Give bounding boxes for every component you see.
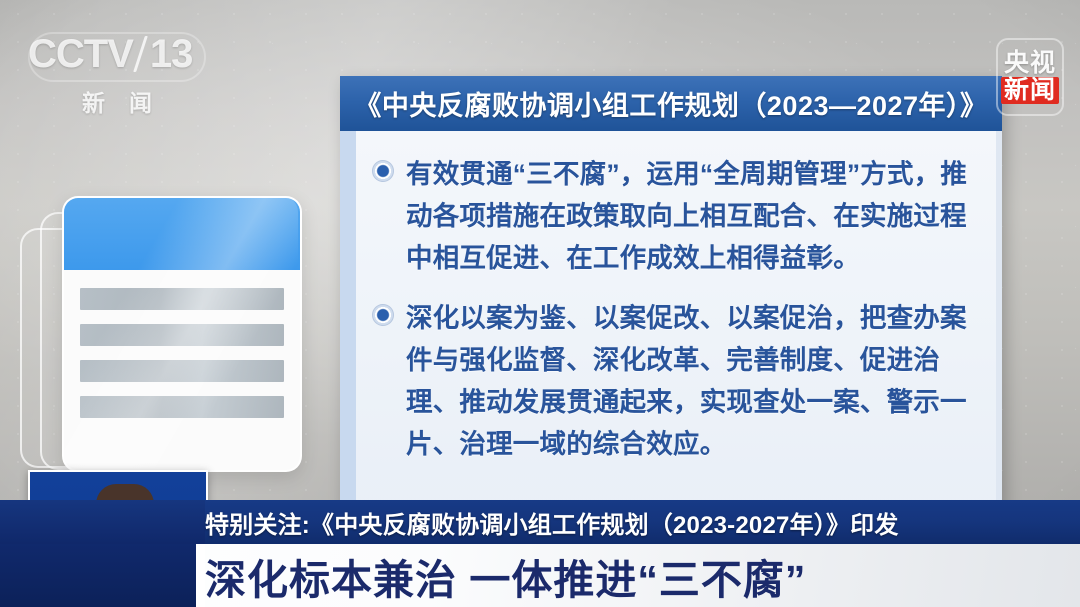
content-panel: 《中央反腐败协调小组工作规划（2023—2027年）》 有效贯通“三不腐”，运用… <box>340 76 1002 516</box>
panel-body: 有效贯通“三不腐”，运用“全周期管理”方式，推动各项措施在政策取向上相互配合、在… <box>340 131 1002 516</box>
panel-title-bar: 《中央反腐败协调小组工作规划（2023—2027年）》 <box>340 76 1002 131</box>
bullet-text: 有效贯通“三不腐”，运用“全周期管理”方式，推动各项措施在政策取向上相互配合、在… <box>406 153 974 279</box>
logo-pill-outline <box>28 32 206 82</box>
document-text-line <box>80 360 284 382</box>
cctv13-channel-logo: CCTV 13 新 闻 <box>28 28 208 118</box>
document-text-line <box>80 396 284 418</box>
bullet-dot-icon <box>372 304 394 326</box>
channel-sub-char-2: 闻 <box>129 84 154 118</box>
document-graphic <box>8 180 338 500</box>
bullet-item: 有效贯通“三不腐”，运用“全周期管理”方式，推动各项措施在政策取向上相互配合、在… <box>372 153 974 279</box>
broadcast-screen: CCTV 13 新 闻 央视 新闻 《中央反腐败协调小组工作规划（2023—20… <box>0 0 1080 607</box>
document-header-band <box>64 198 300 270</box>
ticker-lead-block <box>0 500 205 544</box>
bullet-dot-icon <box>372 160 394 182</box>
document-sheet <box>62 196 302 472</box>
bullet-text: 深化以案为鉴、以案促改、以案促治，把查办案件与强化监督、深化改革、完善制度、促进… <box>406 297 974 465</box>
watermark-line-2: 新闻 <box>1001 77 1059 104</box>
headline-lead-gap <box>196 544 205 607</box>
cctv-news-watermark: 央视 新闻 <box>996 38 1064 116</box>
bullet-item: 深化以案为鉴、以案促改、以案促治，把查办案件与强化监督、深化改革、完善制度、促进… <box>372 297 974 465</box>
logo-secondary-row: 新 闻 <box>28 84 208 118</box>
watermark-line-1: 央视 <box>1004 51 1056 76</box>
panel-title: 《中央反腐败协调小组工作规划（2023—2027年）》 <box>354 84 987 123</box>
ticker-text: 特别关注:《中央反腐败协调小组工作规划（2023-2027年）》印发 <box>205 505 1080 540</box>
document-text-line <box>80 288 284 310</box>
document-text-line <box>80 324 284 346</box>
headline-lead-block <box>0 544 196 607</box>
headline-text: 深化标本兼治 一体推进“三不腐” <box>205 546 1080 606</box>
channel-sub-char-1: 新 <box>82 84 107 118</box>
headline-bar: 深化标本兼治 一体推进“三不腐” <box>0 544 1080 607</box>
lower-third: 特别关注:《中央反腐败协调小组工作规划（2023-2027年）》印发 深化标本兼… <box>0 500 1080 607</box>
ticker-bar: 特别关注:《中央反腐败协调小组工作规划（2023-2027年）》印发 <box>0 500 1080 544</box>
